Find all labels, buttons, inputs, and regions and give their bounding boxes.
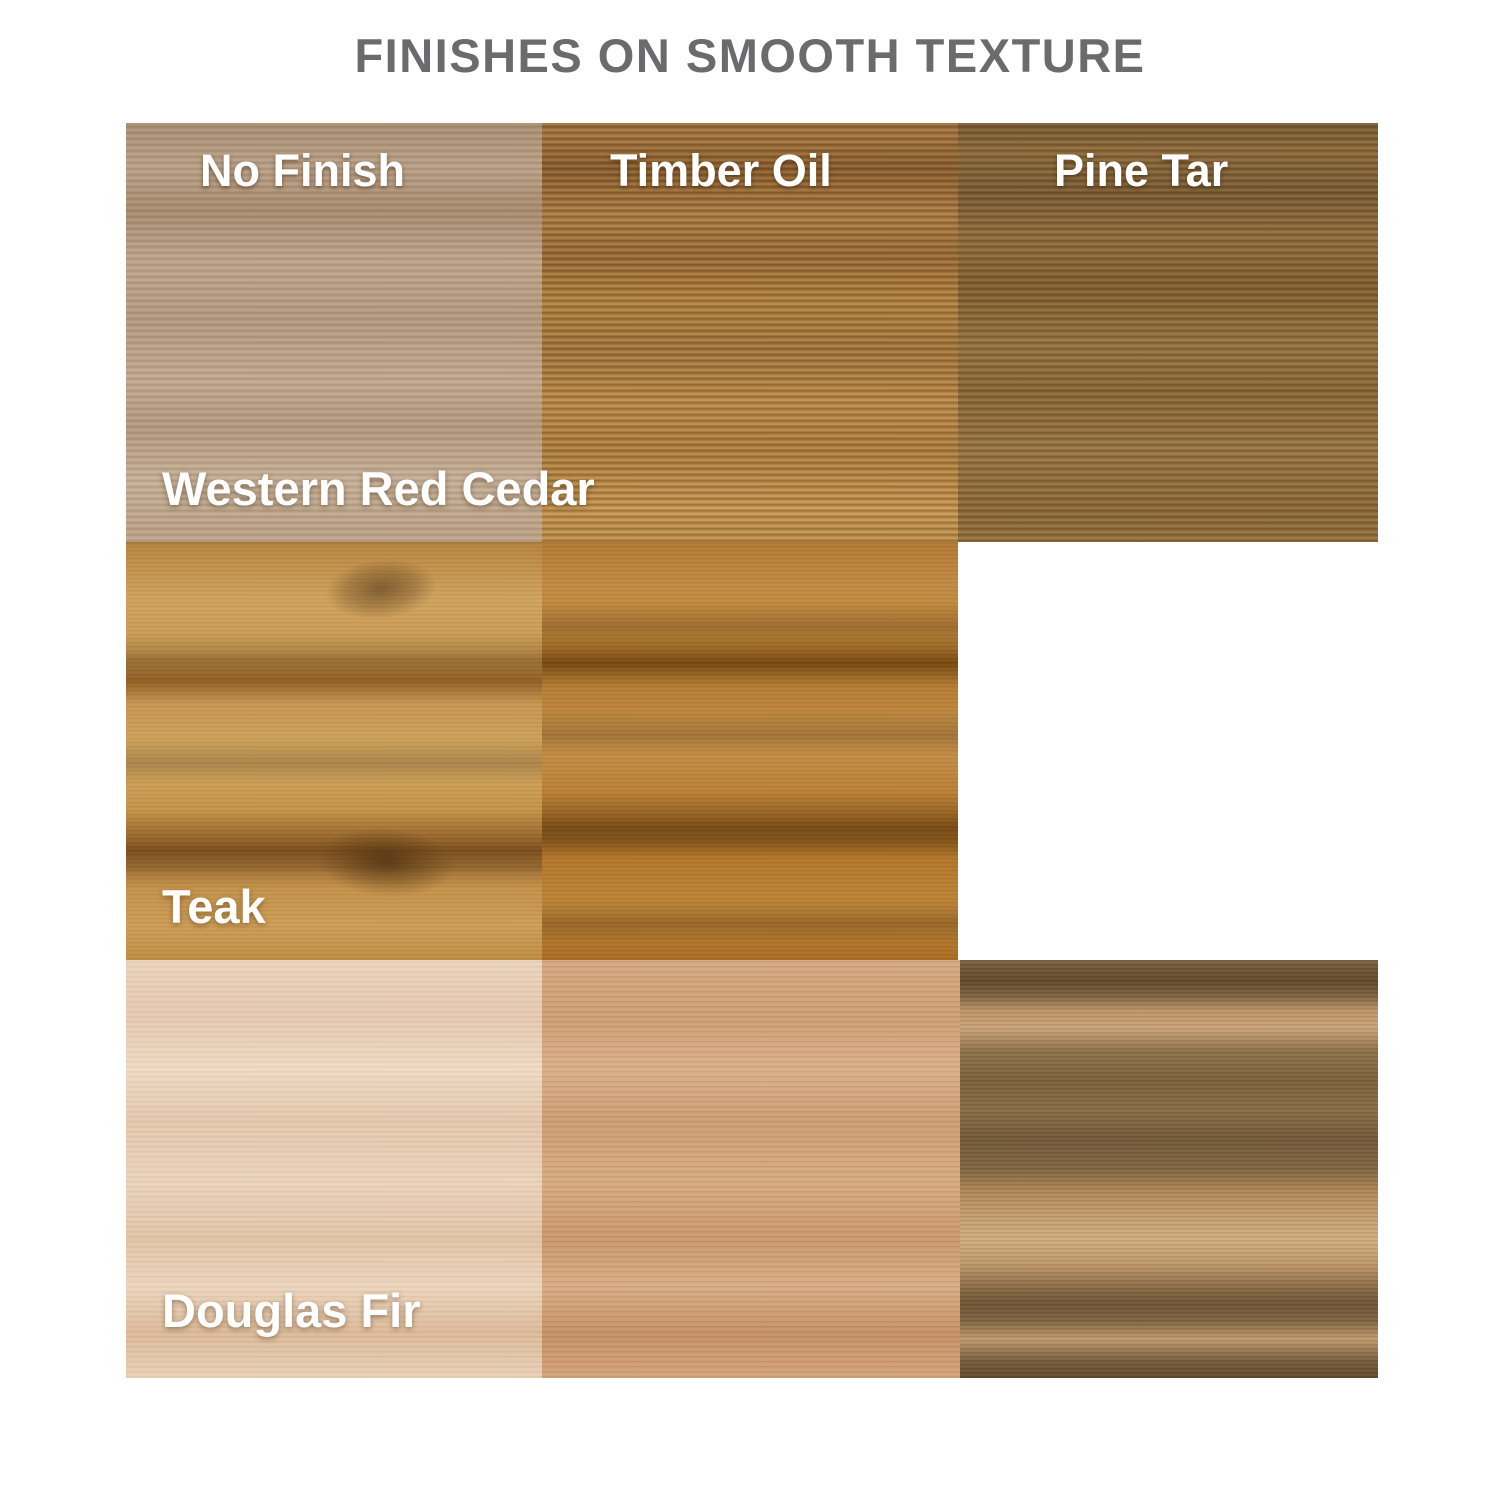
- swatch-teak-timber-oil[interactable]: [542, 542, 958, 960]
- column-label-timber-oil: Timber Oil: [610, 145, 832, 197]
- column-label-no-finish: No Finish: [200, 145, 405, 197]
- swatch-teak-pine-tar-empty: [958, 542, 1378, 960]
- wood-texture: [960, 960, 1378, 1378]
- page-title: FINISHES ON SMOOTH TEXTURE: [0, 28, 1500, 83]
- wood-texture: [542, 960, 960, 1378]
- row-label-douglas-fir: Douglas Fir: [162, 1283, 421, 1338]
- swatch-douglas-fir-pine-tar[interactable]: [960, 960, 1378, 1378]
- row-label-teak: Teak: [162, 879, 266, 934]
- row-label-western-red-cedar: Western Red Cedar: [162, 461, 595, 516]
- wood-texture: [542, 542, 958, 960]
- finish-comparison-grid: No Finish Timber Oil Pine Tar Western Re…: [126, 123, 1378, 1378]
- column-label-pine-tar: Pine Tar: [1054, 145, 1228, 197]
- swatch-douglas-fir-timber-oil[interactable]: [542, 960, 960, 1378]
